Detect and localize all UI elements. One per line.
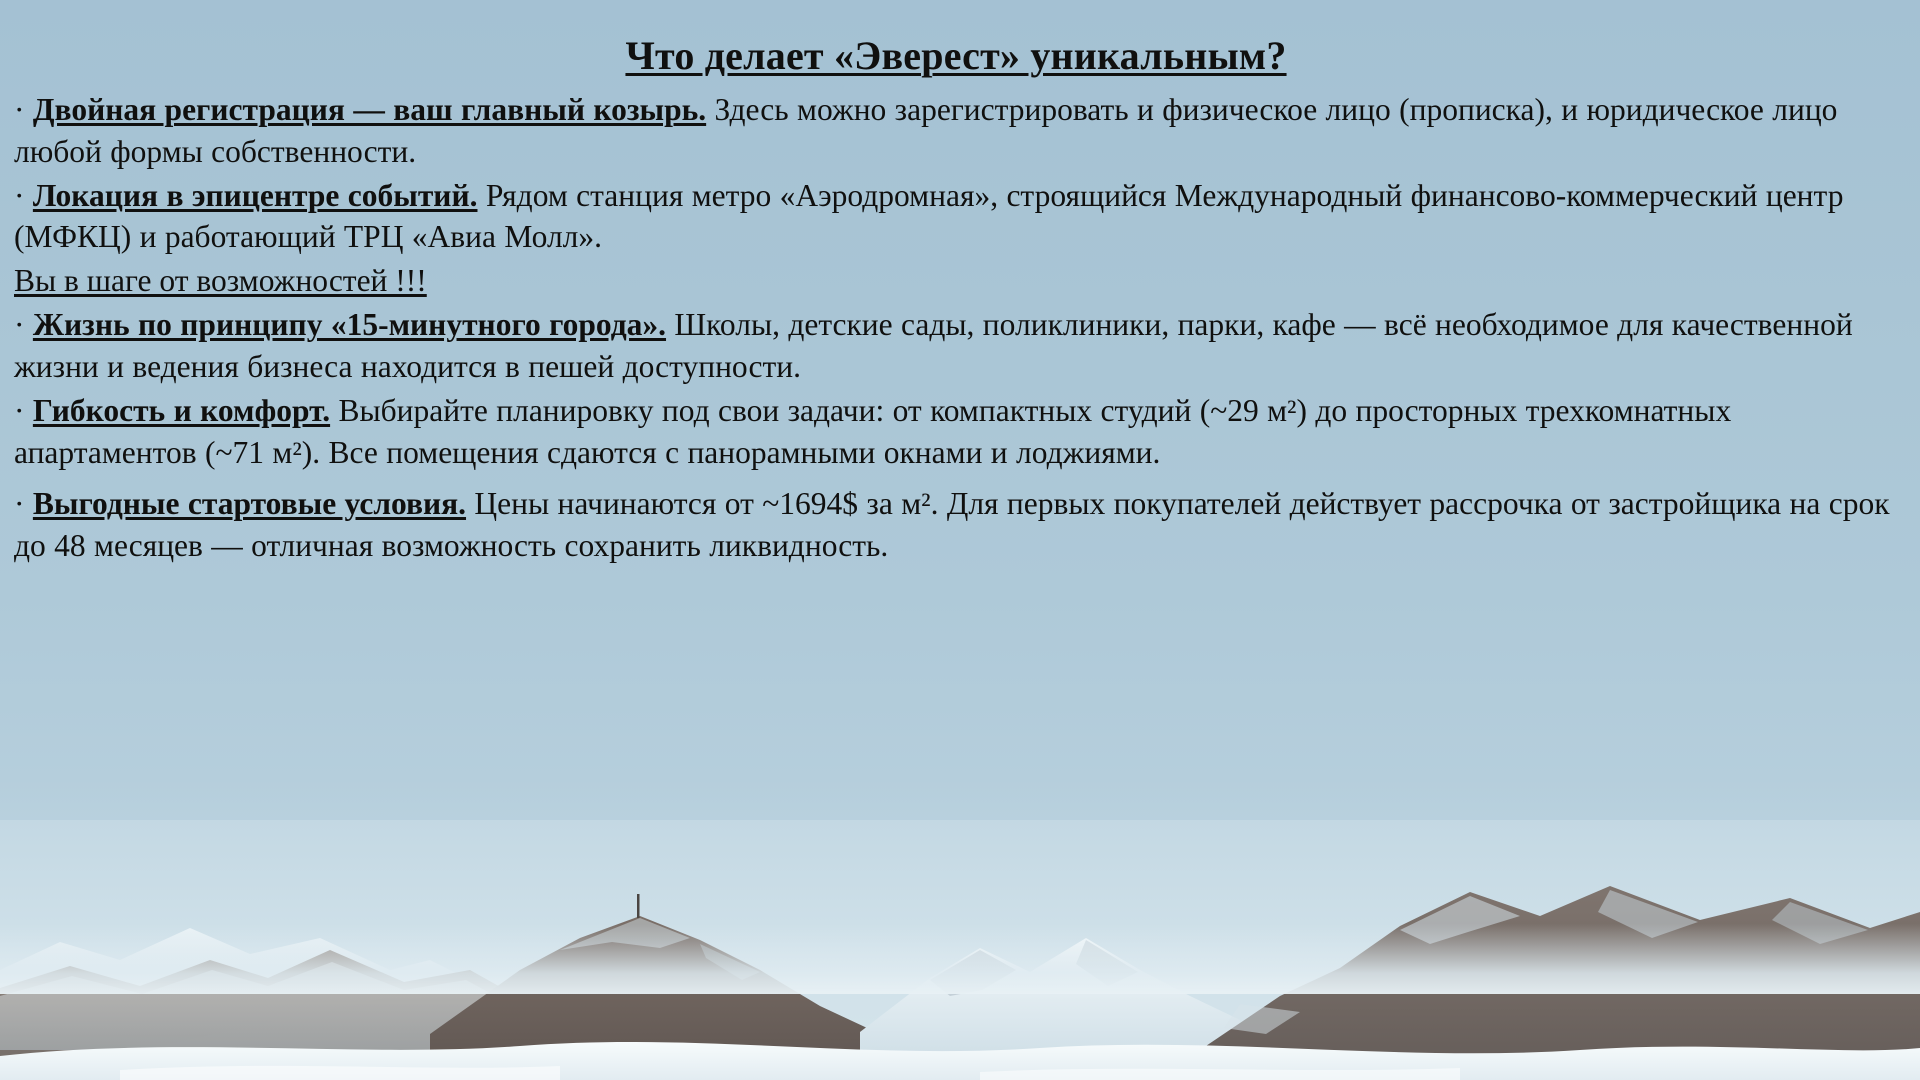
atmospheric-haze: [0, 924, 1920, 994]
bullet-marker: ·: [14, 92, 25, 127]
bullet-item-location: · Локация в эпицентре событий. Рядом ста…: [14, 175, 1898, 259]
bullet-marker: ·: [14, 307, 25, 342]
bullet-item-dual-registration: · Двойная регистрация — ваш главный козы…: [14, 89, 1898, 173]
mountain-photo: [0, 820, 1920, 1080]
page-title: Что делает «Эверест» уникальным?: [14, 34, 1898, 79]
bullet-marker: ·: [14, 178, 25, 213]
bullet-item-15-minute-city: · Жизнь по принципу «15-минутного города…: [14, 304, 1898, 388]
bullet-lead-text: Жизнь по принципу «15-минутного города».: [33, 307, 666, 342]
paragraph-spacer: [14, 476, 1898, 483]
presentation-slide: Что делает «Эверест» уникальным? · Двойн…: [0, 0, 1920, 1080]
callout-line: Вы в шаге от возможностей !!!: [14, 260, 1898, 302]
callout-text: Вы в шаге от возможностей !!!: [14, 263, 427, 298]
page-title-text: Что делает «Эверест» уникальным?: [625, 33, 1286, 78]
bullet-item-starting-conditions: · Выгодные стартовые условия. Цены начин…: [14, 483, 1898, 567]
bullet-lead-text: Выгодные стартовые условия.: [33, 486, 466, 521]
bullet-item-flexibility-comfort: · Гибкость и комфорт. Выбирайте планиров…: [14, 390, 1898, 474]
bullet-lead-text: Локация в эпицентре событий.: [33, 178, 478, 213]
bullet-lead-text: Гибкость и комфорт.: [33, 393, 330, 428]
bullet-marker: ·: [14, 393, 25, 428]
bullet-marker: ·: [14, 486, 25, 521]
slide-text-content: Что делает «Эверест» уникальным? · Двойн…: [0, 0, 1920, 569]
bullet-lead-text: Двойная регистрация — ваш главный козырь…: [33, 92, 706, 127]
